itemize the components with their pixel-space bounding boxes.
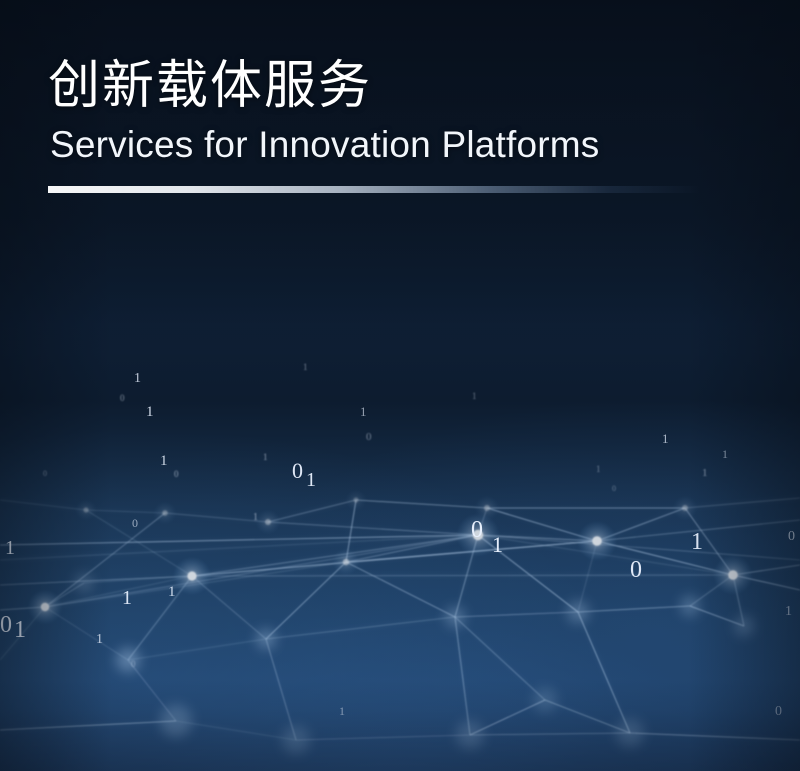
network-node [265, 519, 271, 525]
network-edge [176, 721, 296, 740]
title-divider-rule [48, 186, 700, 193]
network-edge [578, 612, 630, 733]
network-node [41, 603, 49, 611]
network-edge [470, 733, 630, 735]
network-node [592, 536, 602, 546]
network-edge [266, 617, 455, 639]
innovation-platforms-banner: 10110101110001101111001010111101101 创新载体… [0, 0, 800, 771]
network-edge [578, 606, 690, 612]
network-edge [690, 606, 744, 626]
network-edge [470, 700, 545, 735]
network-node [162, 510, 168, 516]
network-edge [165, 513, 268, 522]
network-node [187, 571, 196, 580]
network-node [83, 507, 88, 512]
network-edge [296, 735, 470, 740]
network-edge [266, 639, 296, 740]
network-edge [455, 612, 578, 617]
network-edge [0, 500, 86, 510]
network-edge [455, 617, 545, 700]
network-node [343, 559, 349, 565]
network-edge [685, 498, 800, 508]
network-edge [545, 700, 630, 733]
network-edge [0, 535, 478, 545]
network-edge [0, 535, 478, 560]
network-edge [356, 500, 487, 508]
page-subtitle-english: Services for Innovation Platforms [50, 123, 748, 167]
page-title-chinese: 创新载体服务 [48, 56, 748, 117]
network-edge [192, 575, 733, 576]
network-node [728, 570, 738, 580]
network-edge [86, 510, 165, 513]
network-edge [268, 500, 356, 522]
network-edge [128, 660, 176, 721]
network-edge [128, 639, 266, 660]
network-edge [346, 562, 455, 617]
network-edge [266, 562, 346, 639]
network-edge [0, 576, 192, 585]
headline-block: 创新载体服务 Services for Innovation Platforms [48, 56, 748, 193]
network-edge [597, 520, 800, 541]
network-node [353, 497, 358, 502]
network-node [473, 530, 483, 540]
network-node [682, 505, 688, 511]
network-edge [630, 733, 800, 740]
network-edge [268, 522, 478, 535]
network-edge [0, 721, 176, 730]
network-edge [45, 513, 165, 607]
network-node [484, 505, 490, 511]
network-edge [455, 617, 470, 735]
